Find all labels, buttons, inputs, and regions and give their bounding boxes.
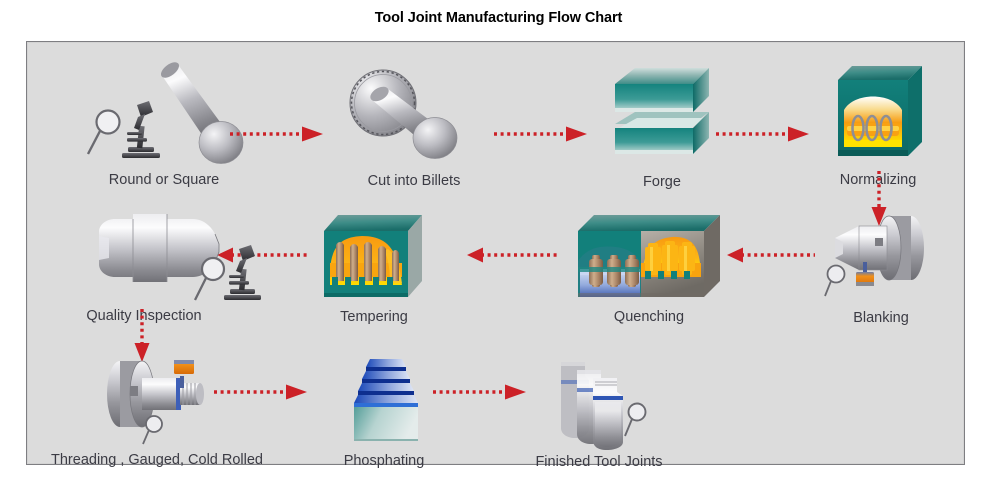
lower-die: [615, 112, 709, 154]
workpiece: [835, 226, 887, 270]
step-cut-into-billets[interactable]: Cut into Billets: [340, 61, 488, 171]
connector-threading-to-phosphating: [212, 382, 308, 402]
step-quality-inspection[interactable]: Quality Inspection: [85, 206, 265, 306]
finished-tool-joints-icon: [545, 350, 653, 450]
connector-cut-to-forge: [492, 124, 588, 144]
connector-forge-to-normalizing: [714, 124, 810, 144]
step-finished-tool-joints[interactable]: Finished Tool Joints: [545, 350, 653, 450]
microscope-icon: [224, 245, 261, 300]
step-blanking[interactable]: Blanking: [823, 208, 939, 304]
tempering-furnace-icon: [318, 209, 430, 305]
step-round-or-square[interactable]: Round or Square: [79, 60, 249, 172]
connector-phosphating-to-finished: [431, 382, 527, 402]
upper-die: [615, 68, 709, 112]
magnifier-icon: [825, 266, 845, 297]
phosphating-tank-icon: [340, 353, 428, 449]
step-forge[interactable]: Forge: [605, 62, 719, 170]
lathe-threading-icon: [94, 352, 220, 448]
step-normalizing[interactable]: Normalizing: [830, 60, 926, 170]
step-label-blanking: Blanking: [823, 310, 939, 326]
tool-joint-body: [99, 214, 219, 282]
hot-parts: [645, 241, 695, 275]
metal-bar-with-microscope-icon: [79, 60, 249, 172]
tool-joint-front: [593, 378, 623, 450]
step-threading-gauged-cold-rolled[interactable]: Threading , Gauged, Cold Rolled: [94, 352, 220, 448]
flow-chart-panel: Round or Square: [26, 41, 965, 465]
page-title: Tool Joint Manufacturing Flow Chart: [0, 10, 997, 26]
step-label-tempering: Tempering: [308, 309, 440, 325]
magnifier-icon: [625, 404, 646, 437]
step-label-forge: Forge: [590, 174, 734, 190]
step-quenching[interactable]: Quenching: [572, 209, 726, 305]
connector-quenching-to-tempering: [467, 245, 561, 265]
microscope-icon: [122, 101, 160, 158]
step-label-quenching: Quenching: [572, 309, 726, 325]
connector-round-to-cut: [228, 124, 324, 144]
quenching-tank-icon: [572, 209, 726, 305]
tank-layers: [354, 359, 418, 403]
connector-blanking-to-quenching: [727, 245, 817, 265]
step-phosphating[interactable]: Phosphating: [340, 353, 428, 449]
lathe-blanking-icon: [823, 208, 939, 304]
magnifier-icon: [88, 111, 120, 155]
workpiece: [142, 378, 204, 410]
saw-blade-cutting-bar-icon: [340, 61, 488, 171]
step-label-threading-gauged-cold-rolled: Threading , Gauged, Cold Rolled: [32, 452, 282, 468]
normalizing-furnace-icon: [830, 60, 926, 170]
forge-press-dies-icon: [605, 62, 719, 170]
step-label-cut-into-billets: Cut into Billets: [312, 173, 516, 189]
step-label-round-or-square: Round or Square: [69, 172, 259, 188]
tool-joint-with-microscope-icon: [85, 206, 265, 306]
step-label-phosphating: Phosphating: [318, 453, 450, 469]
step-label-finished-tool-joints: Finished Tool Joints: [503, 454, 695, 470]
step-tempering[interactable]: Tempering: [318, 209, 430, 305]
